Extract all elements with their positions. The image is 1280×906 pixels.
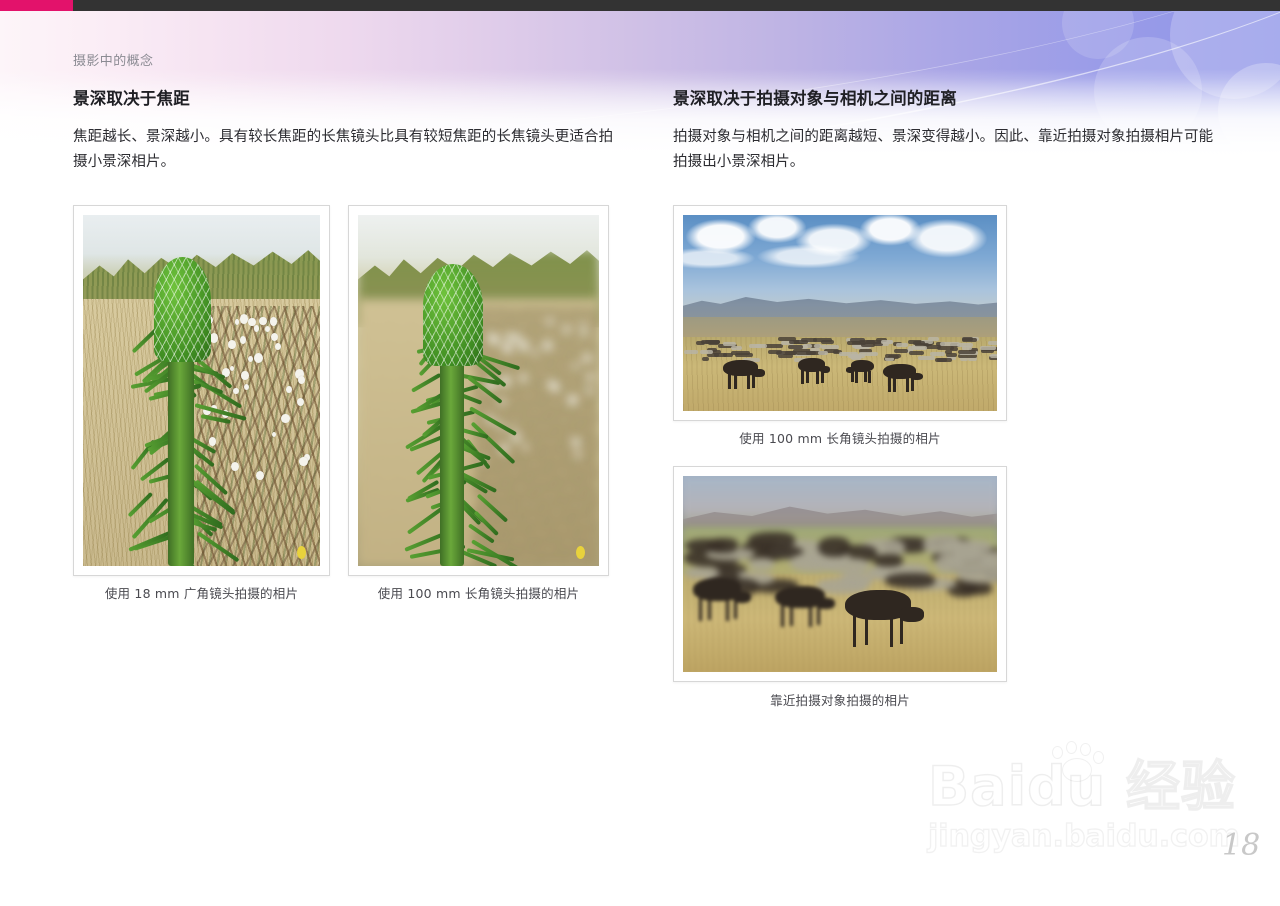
photo-savanna-wide xyxy=(683,215,997,411)
paw-icon xyxy=(1048,744,1110,788)
photo-layer-yellow-flower xyxy=(576,546,585,559)
figure-caption: 使用 18 mm 广角镜头拍摄的相片 xyxy=(73,583,330,602)
page-number: 18 xyxy=(1222,828,1260,863)
top-bar-dark xyxy=(73,0,1280,11)
photo-savanna-close xyxy=(683,476,997,672)
photo-layer-cone xyxy=(423,264,483,366)
figure-caption: 靠近拍摄对象拍摄的相片 xyxy=(673,690,1007,709)
photo-layer-yellow-flower xyxy=(297,546,306,559)
column-right: 景深取决于拍摄对象与相机之间的距离 拍摄对象与相机之间的距离越短、景深变得越小。… xyxy=(673,88,1218,175)
photo-layer-stem xyxy=(440,348,464,566)
column-left: 景深取决于焦距 焦距越长、景深越小。具有较长焦距的长焦镜头比具有较短焦距的长焦镜… xyxy=(73,88,618,175)
figure-left-telephoto xyxy=(348,205,609,576)
watermark: Baidu 经验 jingyan.baidu.com xyxy=(928,760,1240,852)
photo-lobelia-sharp xyxy=(83,215,320,566)
top-bar xyxy=(0,0,1280,11)
photo-layer-stem xyxy=(168,348,194,566)
gnu-silhouette xyxy=(721,360,765,390)
photo-layer-foreground-gnus xyxy=(683,215,997,411)
gnu-silhouette xyxy=(840,590,924,648)
figure-caption: 使用 100 mm 长角镜头拍摄的相片 xyxy=(673,428,1007,447)
gnu-silhouette xyxy=(881,364,923,393)
figure-right-telephoto xyxy=(673,205,1007,421)
figure-right-close-subject xyxy=(673,466,1007,682)
page-root: 摄影中的概念 景深取决于焦距 焦距越长、景深越小。具有较长焦距的长焦镜头比具有较… xyxy=(0,0,1280,906)
top-bar-accent xyxy=(0,0,73,11)
gnu-silhouette xyxy=(771,586,835,628)
photo-lobelia-blurred xyxy=(358,215,599,566)
watermark-url: jingyan.baidu.com xyxy=(928,822,1240,852)
gnu-silhouette xyxy=(796,358,830,384)
body-text-left: 焦距越长、景深越小。具有较长焦距的长焦镜头比具有较短焦距的长焦镜头更适合拍摄小景… xyxy=(73,125,618,175)
breadcrumb: 摄影中的概念 xyxy=(73,50,153,69)
page-title: 景深取决于焦距 xyxy=(73,88,618,109)
photo-layer-cone xyxy=(154,257,211,362)
photo-layer-foreground-gnu xyxy=(683,476,997,672)
gnu-silhouette xyxy=(689,578,751,622)
section-title-right: 景深取决于拍摄对象与相机之间的距离 xyxy=(673,88,1218,109)
gnu-silhouette xyxy=(846,360,876,383)
figure-left-wide-angle xyxy=(73,205,330,576)
figure-caption: 使用 100 mm 长角镜头拍摄的相片 xyxy=(348,583,609,602)
body-text-right: 拍摄对象与相机之间的距离越短、景深变得越小。因此、靠近拍摄对象拍摄相片可能拍摄出… xyxy=(673,125,1218,175)
